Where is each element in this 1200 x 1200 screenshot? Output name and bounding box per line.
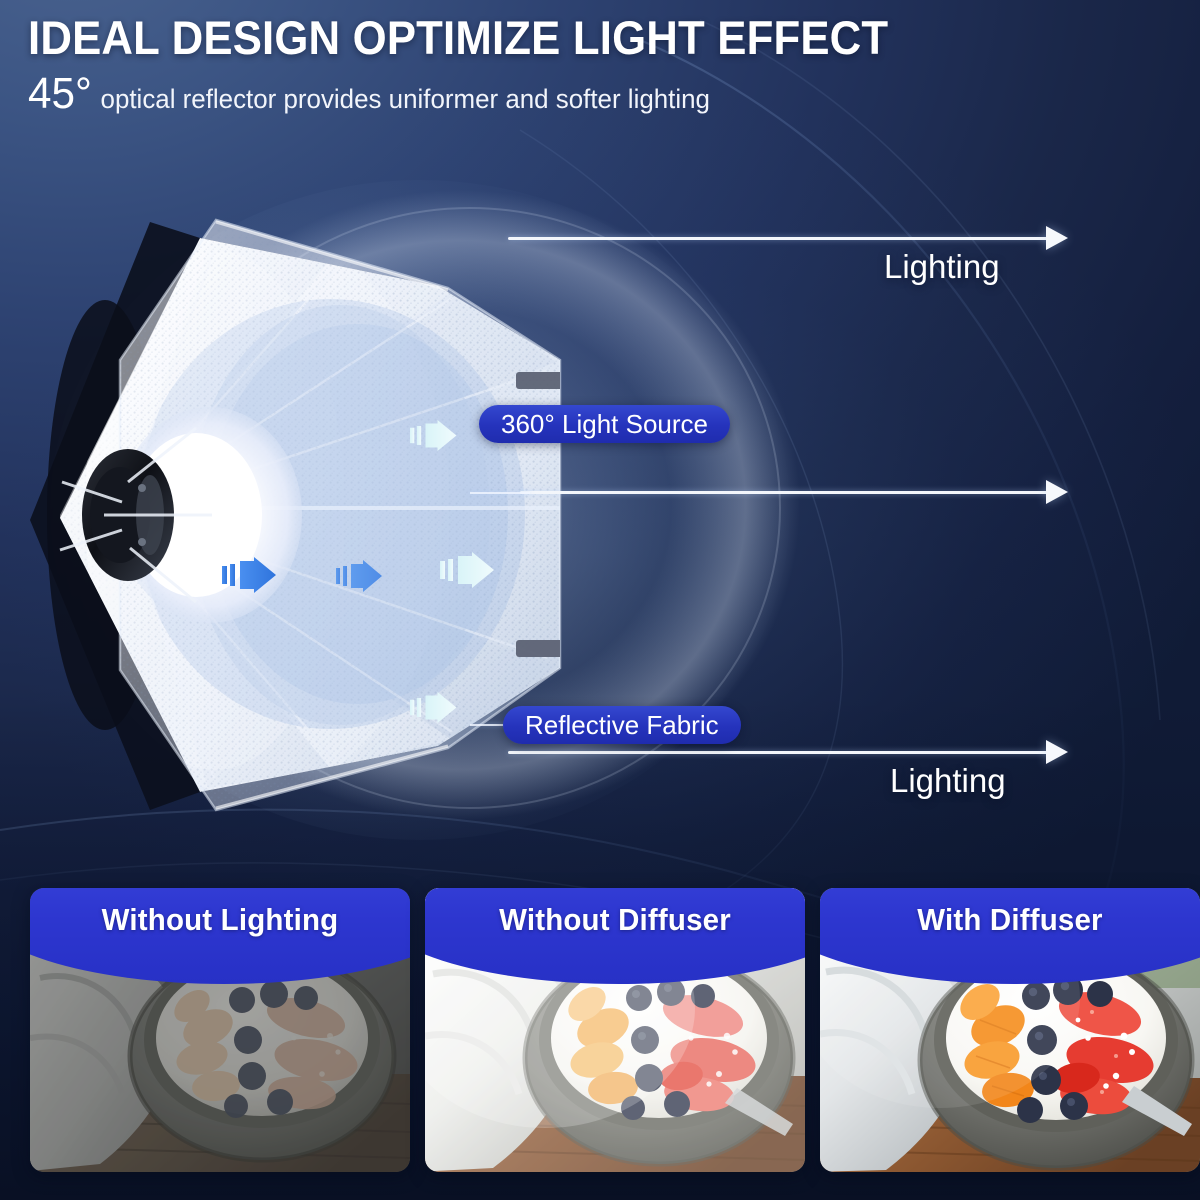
softbox-diagram	[0, 110, 1200, 890]
callout-reflective-fabric: Reflective Fabric	[503, 706, 741, 744]
panel-without-diffuser[interactable]: Without Diffuser	[425, 888, 805, 1172]
header: IDEAL DESIGN OPTIMIZE LIGHT EFFECT 45° o…	[28, 14, 1178, 116]
panel-label-without-lighting: Without Lighting	[40, 902, 401, 938]
subtitle: 45° optical reflector provides uniformer…	[28, 72, 1132, 116]
panel-label-with-diffuser: With Diffuser	[830, 902, 1191, 938]
callout-light-source: 360° Light Source	[479, 405, 730, 443]
panel-label-without-diffuser: Without Diffuser	[435, 902, 796, 938]
subtitle-text: optical reflector provides uniformer and…	[101, 86, 710, 113]
panel-without-lighting[interactable]: Without Lighting	[30, 888, 410, 1172]
infographic-root: IDEAL DESIGN OPTIMIZE LIGHT EFFECT 45° o…	[0, 0, 1200, 1200]
comparison-panels: Without Lighting	[0, 888, 1200, 1178]
page-title: IDEAL DESIGN OPTIMIZE LIGHT EFFECT	[28, 14, 1098, 62]
panel-with-diffuser[interactable]: With Diffuser	[820, 888, 1200, 1172]
callout-line-light-source	[470, 492, 530, 494]
subtitle-degree: 45°	[28, 72, 92, 116]
